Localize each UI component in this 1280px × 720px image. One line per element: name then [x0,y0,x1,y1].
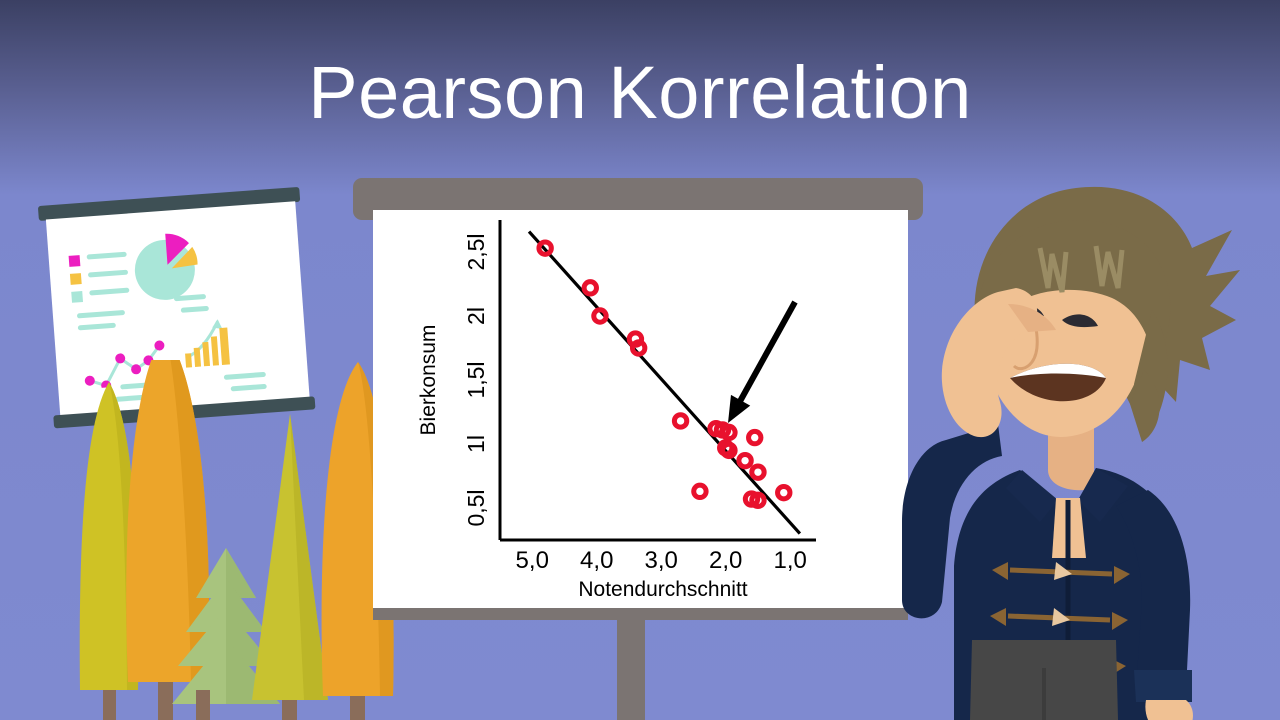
data-point [752,466,764,478]
legend-swatch-magenta [69,255,81,267]
data-point [594,310,606,322]
regression-line [529,232,800,534]
y-axis-label: Bierkonsum [417,325,440,436]
y-tick-label: 1,5l [463,361,489,398]
y-tick-label: 0,5l [463,489,489,526]
data-point [778,486,790,498]
data-point [749,431,761,443]
legend-swatch-mint [71,291,83,303]
y-tick-label: 1l [463,435,489,453]
right-hand [1145,700,1193,720]
pie-chart-icon [129,228,206,305]
y-axis-tick-labels: 0,5l1l1,5l2l2,5l [463,233,489,526]
y-tick-label: 2l [463,307,489,325]
confused-student-illustration [880,170,1280,720]
pointer-arrow [728,302,795,423]
data-point [584,282,596,294]
scatter-chart: 0,5l1l1,5l2l2,5l 5,04,03,02,01,0 Bierkon… [373,210,908,610]
x-tick-label: 3,0 [645,547,678,574]
x-axis-tick-labels: 5,04,03,02,01,0 [516,547,807,574]
data-point [674,415,686,427]
legend-line-2 [88,270,128,278]
whiteboard-stand-post [617,618,645,720]
x-tick-label: 2,0 [709,547,742,574]
data-point [632,342,644,354]
data-point [739,454,751,466]
page-title: Pearson Korrelation [0,56,1280,130]
x-tick-label: 1,0 [774,547,807,574]
legend-swatch-yellow [70,273,82,285]
x-tick-label: 5,0 [516,547,549,574]
sleeve-cuff [1134,670,1192,702]
data-point [694,485,706,497]
tree-group [60,360,420,720]
scatter-chart-canvas: 0,5l1l1,5l2l2,5l 5,04,03,02,01,0 Bierkon… [373,210,908,610]
y-tick-label: 2,5l [463,233,489,270]
x-tick-label: 4,0 [580,547,613,574]
x-axis-label: Notendurchschnitt [578,578,747,601]
legend-line-3 [89,288,129,296]
legend-line-1 [87,252,127,260]
text-line-left-1 [77,310,125,319]
